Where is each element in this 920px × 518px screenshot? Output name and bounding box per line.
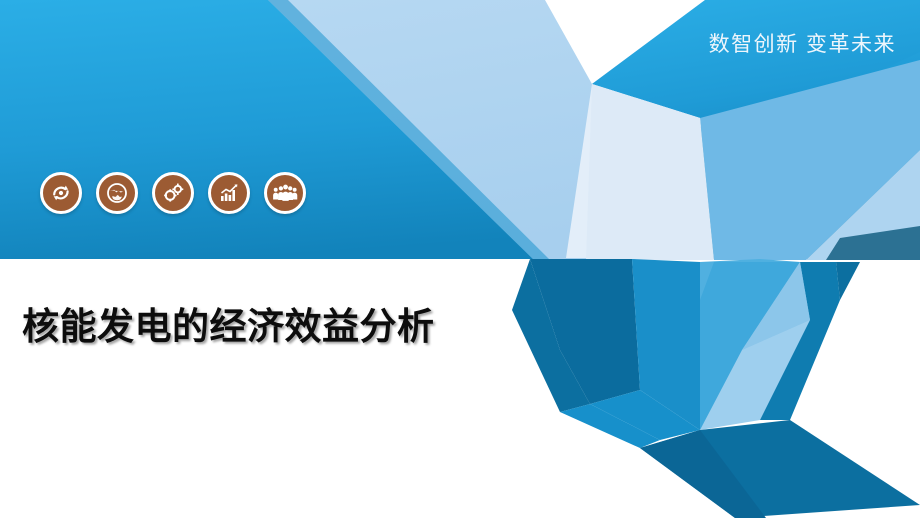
title-slide: 数智创新 变革未来 [0, 0, 920, 518]
gears-icon [161, 181, 186, 206]
icon-badge-recycle[interactable] [40, 172, 82, 214]
bar-chart-icon [217, 181, 241, 205]
icon-badge-gears[interactable] [152, 172, 194, 214]
slide-tagline: 数智创新 变革未来 [709, 28, 896, 58]
background-artwork [0, 0, 920, 518]
icon-badge-globe[interactable] [96, 172, 138, 214]
page-title: 核能发电的经济效益分析 [22, 296, 435, 350]
people-group-icon [272, 182, 298, 204]
icon-badge-people[interactable] [264, 172, 306, 214]
globe-icon [105, 181, 129, 205]
icon-row [40, 172, 306, 214]
icon-badge-bar-chart[interactable] [208, 172, 250, 214]
recycle-arrows-icon [49, 181, 73, 205]
